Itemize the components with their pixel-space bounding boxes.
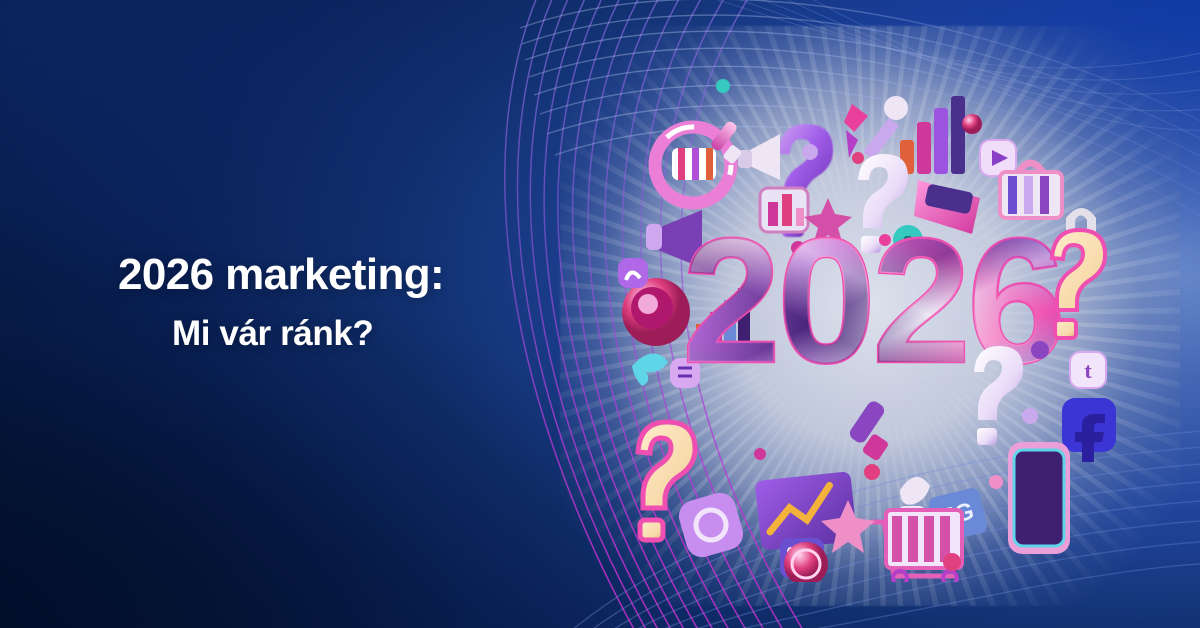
sphere-bead-icon (716, 79, 730, 93)
sphere-bead-icon (1031, 341, 1049, 359)
instagram-icon (675, 489, 747, 561)
camera-lens-icon (622, 278, 690, 346)
lipstick-icon (847, 399, 889, 462)
copy-block: 2026 marketing: Mi vár ránk? (118, 252, 548, 352)
rocket-icon (844, 104, 868, 158)
sphere-bead-icon (943, 553, 961, 571)
shopping-cart-icon (872, 510, 962, 582)
sphere-bead-icon (1022, 408, 1038, 424)
megaphone-icon (738, 134, 780, 180)
twitter-icon: t (1070, 352, 1106, 388)
sphere-bead-icon (864, 464, 880, 480)
icon-sphere: S (600, 62, 1145, 582)
twitter-bird-icon (632, 353, 668, 386)
marketing-banner: S (0, 0, 1200, 628)
sphere-bead-icon (989, 475, 1003, 489)
sphere-bead-icon (754, 448, 766, 460)
page-subtitle: Mi vár ránk? (172, 315, 548, 352)
bar-chart-icon (900, 96, 965, 174)
facebook-icon (1062, 398, 1116, 462)
page-title: 2026 marketing: (118, 252, 548, 299)
svg-text:t: t (1084, 358, 1092, 383)
instagram-icon (618, 258, 648, 288)
sphere-bead-icon (962, 114, 982, 134)
sphere-bead-icon (852, 152, 864, 164)
question-mark-icon (1052, 230, 1105, 338)
sphere-bead-icon (802, 144, 818, 160)
smartphone-icon (1008, 442, 1070, 554)
